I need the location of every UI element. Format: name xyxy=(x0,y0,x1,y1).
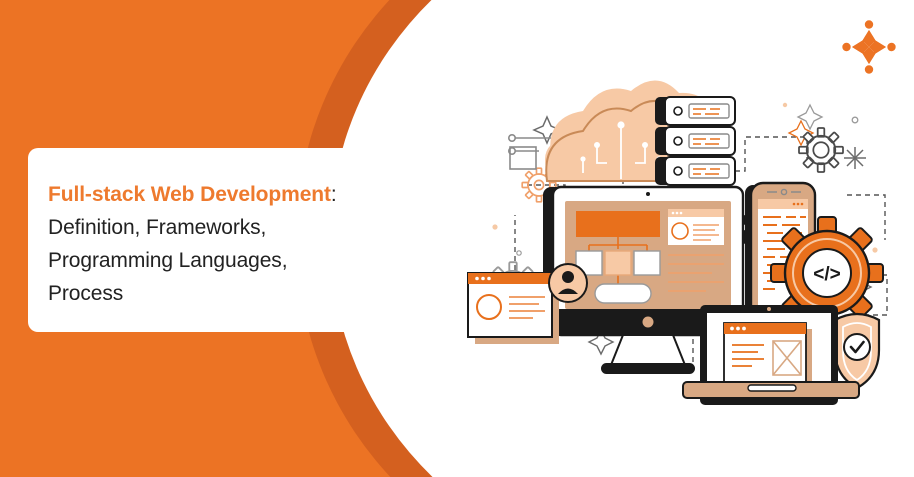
node-connector-icon xyxy=(509,135,551,169)
four-pointed-star-logo-icon xyxy=(840,18,898,76)
browser-window-icon xyxy=(468,273,559,344)
code-glyph: </> xyxy=(813,264,840,285)
page-title: Full-stack Web Development: Definition, … xyxy=(48,178,345,310)
server-rack-icon xyxy=(655,97,735,185)
user-avatar-icon xyxy=(549,264,587,302)
laptop-browser-icon xyxy=(683,305,859,405)
full-stack-development-illustration: .dk { fill:none; stroke:#1A1A1A; stroke-… xyxy=(455,75,905,405)
brand-logo[interactable] xyxy=(840,18,898,76)
banner-root: Full-stack Web Development: Definition, … xyxy=(0,0,914,477)
headline-card: Full-stack Web Development: Definition, … xyxy=(28,148,373,332)
page-title-accent: Full-stack Web Development xyxy=(48,183,331,206)
security-shield-icon xyxy=(835,314,879,388)
